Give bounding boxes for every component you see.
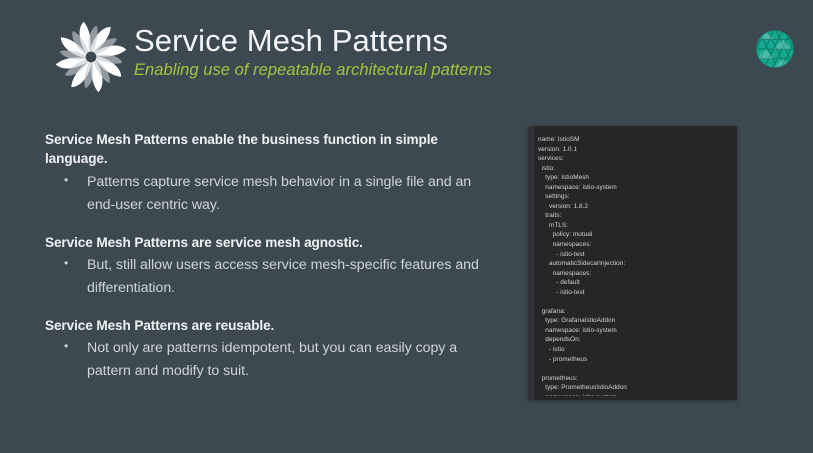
list-item: Not only are patterns idempotent, but yo… — [45, 337, 500, 383]
code-line: namespace: istio-system — [534, 183, 733, 193]
code-line: namespace: istio-system — [534, 393, 733, 396]
yaml-code-panel: name: IstioSMversion: 1.0.1services: ist… — [528, 126, 737, 400]
code-line: type: PrometheusIstioAddon — [534, 383, 733, 393]
code-line: dependsOn: — [534, 335, 733, 345]
bullet-list: But, still allow users access service me… — [45, 254, 500, 300]
code-line: - istio-test — [534, 288, 733, 298]
list-item: But, still allow users access service me… — [45, 254, 500, 300]
code-line: - istio-test — [534, 250, 733, 260]
code-line: type: IstioMesh — [534, 173, 733, 183]
point-group: Service Mesh Patterns are service mesh a… — [45, 233, 500, 300]
meshery-pinwheel-logo — [50, 16, 132, 98]
code-line: name: IstioSM — [534, 135, 733, 145]
code-line: policy: mutual — [534, 230, 733, 240]
code-line: namespace: istio-system — [534, 326, 733, 336]
code-line: istio: — [534, 164, 733, 174]
code-content: name: IstioSMversion: 1.0.1services: ist… — [534, 135, 733, 396]
code-line: version: 1.8.2 — [534, 202, 733, 212]
point-heading: Service Mesh Patterns enable the busines… — [45, 130, 500, 169]
list-item: Patterns capture service mesh behavior i… — [45, 171, 500, 217]
code-line: namespaces: — [534, 269, 733, 279]
code-line: namespaces: — [534, 240, 733, 250]
code-line: grafana: — [534, 307, 733, 317]
code-line: mTLS: — [534, 221, 733, 231]
page-subtitle: Enabling use of repeatable architectural… — [134, 61, 714, 80]
point-group: Service Mesh Patterns are reusable. Not … — [45, 316, 500, 383]
content-column: Service Mesh Patterns enable the busines… — [45, 130, 500, 383]
layer5-mesh-circle-logo — [748, 22, 802, 76]
code-line: - prometheus — [534, 355, 733, 365]
point-group: Service Mesh Patterns enable the busines… — [45, 130, 500, 217]
code-line: settings: — [534, 192, 733, 202]
code-line: prometheus: — [534, 374, 733, 384]
code-line: traits: — [534, 211, 733, 221]
point-heading: Service Mesh Patterns are reusable. — [45, 316, 500, 335]
code-line: version: 1.0.1 — [534, 145, 733, 155]
code-line: - default — [534, 278, 733, 288]
bullet-list: Not only are patterns idempotent, but yo… — [45, 337, 500, 383]
slide-header: Service Mesh Patterns Enabling use of re… — [0, 0, 813, 104]
page-title: Service Mesh Patterns — [134, 24, 714, 59]
code-line: type: GrafanaIstioAddon — [534, 316, 733, 326]
point-heading: Service Mesh Patterns are service mesh a… — [45, 233, 500, 252]
code-line: services: — [534, 154, 733, 164]
bullet-list: Patterns capture service mesh behavior i… — [45, 171, 500, 217]
code-line — [534, 364, 733, 374]
code-line — [534, 297, 733, 307]
code-line: automaticSidecarInjection: — [534, 259, 733, 269]
code-line: - istio — [534, 345, 733, 355]
title-block: Service Mesh Patterns Enabling use of re… — [134, 24, 714, 80]
slide: Service Mesh Patterns Enabling use of re… — [0, 0, 813, 453]
